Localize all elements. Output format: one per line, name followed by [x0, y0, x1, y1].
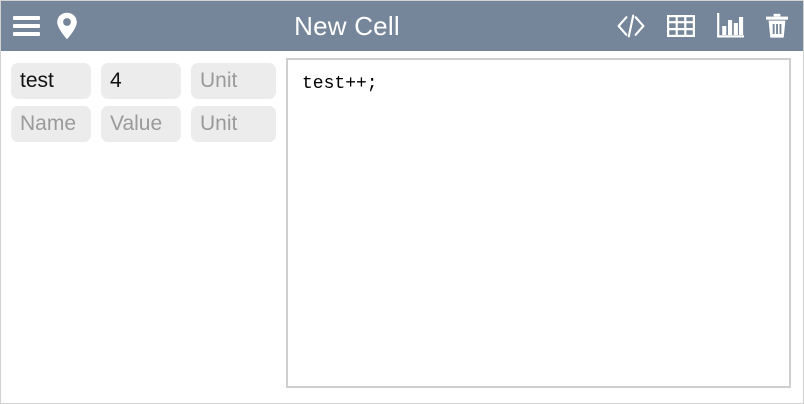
menu-icon[interactable]	[13, 16, 40, 36]
variable-name-input[interactable]	[11, 63, 91, 99]
variable-row	[11, 63, 279, 99]
cell-body: test++;	[1, 51, 804, 404]
page-title: New Cell	[78, 1, 616, 51]
variable-row	[11, 106, 279, 142]
header-right-actions	[616, 13, 804, 39]
variable-unit-input[interactable]	[191, 63, 276, 99]
code-editor[interactable]: test++;	[286, 58, 791, 388]
variable-value-input[interactable]	[101, 106, 181, 142]
header-left-actions	[1, 12, 78, 40]
menu-icon-bar-1	[13, 16, 40, 20]
menu-icon-bar-3	[13, 32, 40, 36]
table-icon[interactable]	[667, 14, 695, 38]
app-header: New Cell	[1, 1, 804, 51]
code-editor-content[interactable]: test++;	[302, 72, 775, 96]
variable-name-input[interactable]	[11, 106, 91, 142]
cell-editor-window: New Cell	[0, 0, 804, 404]
code-icon[interactable]	[616, 14, 646, 38]
variable-unit-input[interactable]	[191, 106, 276, 142]
variable-value-input[interactable]	[101, 63, 181, 99]
chart-icon[interactable]	[716, 13, 744, 39]
menu-icon-bar-2	[13, 24, 40, 28]
delete-icon[interactable]	[765, 13, 789, 39]
location-pin-icon[interactable]	[56, 12, 78, 40]
variables-panel	[1, 51, 279, 404]
